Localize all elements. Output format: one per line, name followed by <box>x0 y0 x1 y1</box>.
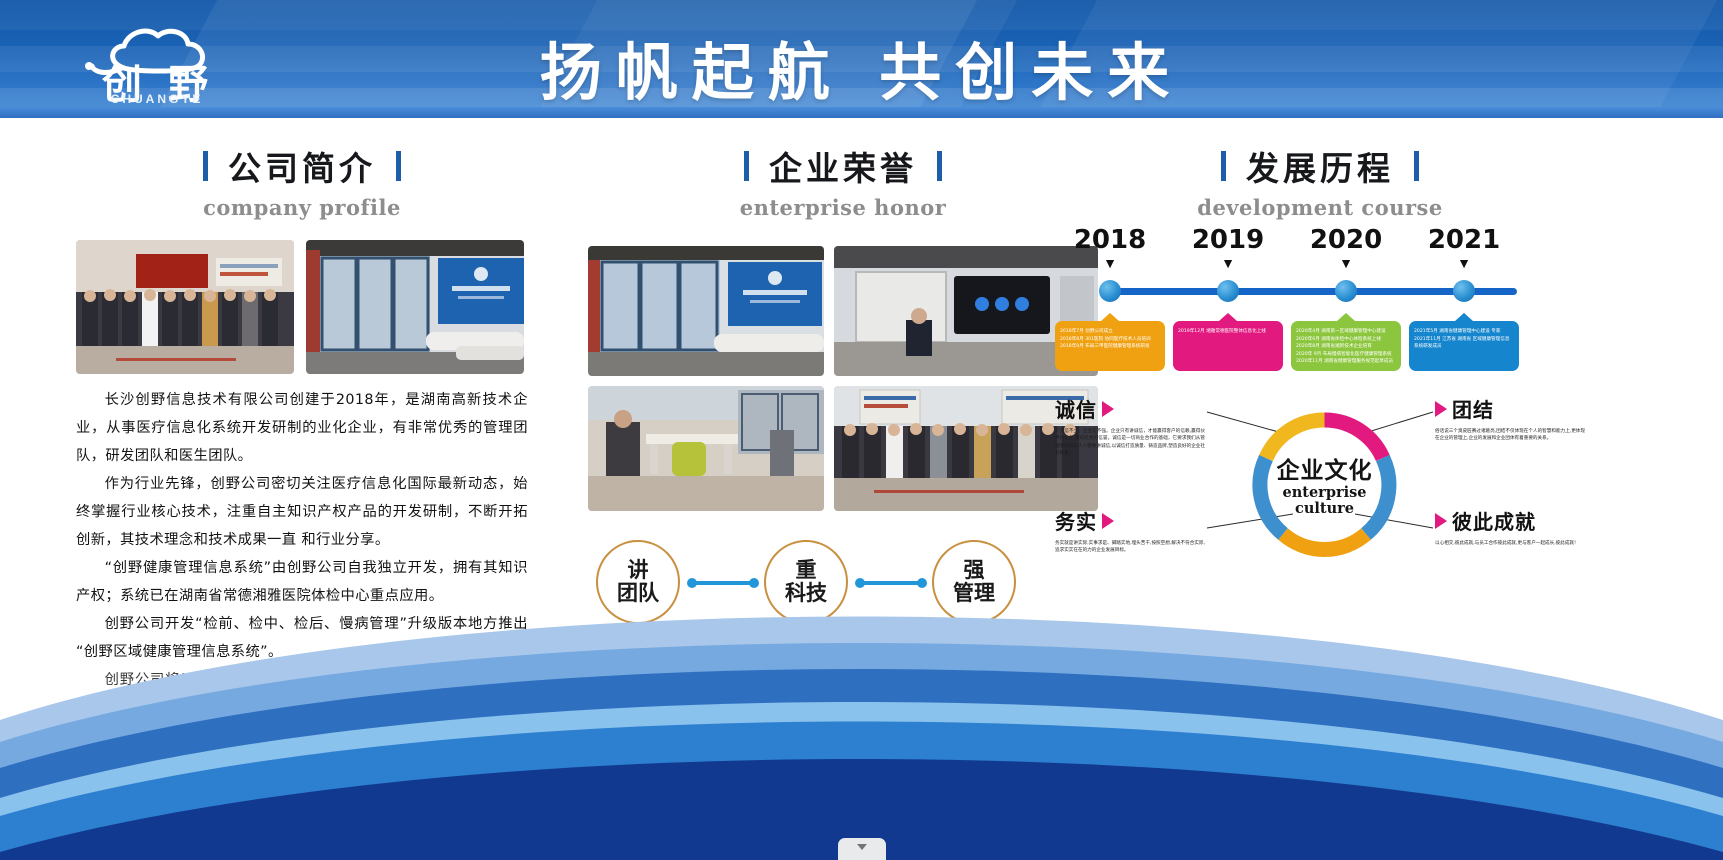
title-bar-left <box>1221 151 1226 181</box>
timeline-entry: 2020年4月 湖南第一区域健康管理中心建设 <box>1296 328 1396 336</box>
timeline-entry: 2020年6月 湖南省体检中心体检系统上线 <box>1296 336 1396 344</box>
culture-item-integrity: 诚信 人无信不立，企业信不强。企业只有讲诚信，才能赢得客户的信赖,赢得伙伴的信任… <box>1055 394 1205 458</box>
section-title-cn: 公司简介 <box>76 142 528 190</box>
timeline-caret-icon: ▼ <box>1173 258 1283 268</box>
timeline-card-2020: 2020年4月 湖南第一区域健康管理中心建设 2020年6月 湖南省体检中心体检… <box>1291 321 1401 371</box>
bottom-wave-decoration <box>0 570 1723 860</box>
honor-photo-gallery <box>588 246 1098 511</box>
culture-center-cn: 企业文化 <box>1277 451 1373 485</box>
section-title-en: enterprise honor <box>588 195 1098 220</box>
section-heading-development-course: 发展历程 development course <box>1055 142 1585 220</box>
logo-subtitle: CHUANGYE <box>62 92 252 106</box>
scroll-down-indicator[interactable] <box>838 838 886 860</box>
card-notch <box>1455 313 1473 321</box>
photo-office-interior <box>588 246 824 376</box>
photo-workspace <box>588 386 824 511</box>
header-underline <box>0 107 1723 118</box>
photo-office-lobby <box>306 240 524 374</box>
culture-item-unity: 团结 俗话说三个臭皮匠赛过诸葛亮,团结不仅体现在个人的智慧和能力上,更体现在企业… <box>1435 394 1585 443</box>
card-notch <box>1101 313 1119 321</box>
poster-header: 扬帆起航 共创未来 创 野 CHUANGYE <box>0 0 1723 118</box>
section-heading-enterprise-honor: 企业荣誉 enterprise honor <box>588 142 1098 220</box>
section-title-en: company profile <box>76 195 528 220</box>
culture-ring: 企业文化 enterprise culture <box>1247 406 1402 561</box>
timeline-caret-icon: ▼ <box>1291 258 1401 268</box>
profile-paragraph: 长沙创野信息技术有限公司创建于2018年，是湖南高新技术企业，从事医疗信息化系统… <box>76 386 528 470</box>
card-notch <box>1219 313 1237 321</box>
timeline-entry: 2020年11月 湖南省健康管理服务规范起草成员 <box>1296 358 1396 366</box>
timeline-year-2019: 2019 <box>1173 225 1283 255</box>
company-logo: 创 野 CHUANGYE <box>62 6 252 110</box>
arrow-right-icon <box>1102 513 1114 529</box>
culture-item-title-row: 务实 <box>1055 506 1205 535</box>
card-notch <box>1337 313 1355 321</box>
culture-center-en-line1: enterprise <box>1282 485 1366 501</box>
timeline-card-2021: 2021年5月 湖南省健康管理中心建设 专家 2021年11月 江苏省 湖南省 … <box>1409 321 1519 371</box>
culture-ring-center: 企业文化 enterprise culture <box>1247 406 1402 561</box>
timeline-caret-icon: ▼ <box>1055 258 1165 268</box>
timeline-dot-2019 <box>1217 280 1239 302</box>
bottom-wave-svg <box>0 570 1723 860</box>
arrow-right-icon <box>1435 513 1447 529</box>
title-bar-right <box>1414 151 1419 181</box>
culture-item-body: 俗话说三个臭皮匠赛过诸葛亮,团结不仅体现在个人的智慧和能力上,更体现在企业的管理… <box>1435 428 1585 443</box>
title-bar-left <box>203 151 208 181</box>
title-bar-right <box>396 151 401 181</box>
timeline-card-2018: 2018年7月 创野公司成立 2018年8月 301医院 协同医疗技术人员培训 … <box>1055 321 1165 371</box>
culture-title-text: 务实 <box>1055 506 1097 535</box>
culture-item-body: 以心相交,彼此成就,与员工合作彼此成就,更与客户一起成长,彼此成就! <box>1435 540 1585 547</box>
timeline-entry: 2021年5月 湖南省健康管理中心建设 专家 <box>1414 328 1514 336</box>
timeline-entry: 2018年7月 创野公司成立 <box>1060 328 1160 336</box>
culture-item-body: 人无信不立，企业信不强。企业只有讲诚信，才能赢得客户的信赖,赢得伙伴的信任,赢得… <box>1055 428 1205 458</box>
timeline-entry: 2018年9月 布局三甲医院健康管理系统研发 <box>1060 343 1160 351</box>
photo-office-lobby-image <box>306 240 524 374</box>
culture-item-title-row: 彼此成就 <box>1435 506 1585 535</box>
profile-paragraph: 作为行业先锋，创野公司密切关注医疗信息化国际最新动态，始终掌握行业核心技术，注重… <box>76 470 528 554</box>
timeline-dot-2018 <box>1099 280 1121 302</box>
section-heading-company-profile: 公司简介 company profile <box>76 142 528 220</box>
title-bar-left <box>744 151 749 181</box>
section-title-cn: 发展历程 <box>1055 142 1585 190</box>
culture-title-text: 彼此成就 <box>1452 506 1536 535</box>
arrow-right-icon <box>1102 401 1114 417</box>
photo-office-interior-image <box>588 246 824 376</box>
section-title-text: 发展历程 <box>1246 142 1394 190</box>
timeline-year-2020: 2020 <box>1291 225 1401 255</box>
culture-center-en-line2: culture <box>1282 501 1366 517</box>
timeline-entry: 2021年11月 江苏省 湖南省 区域健康管理信息 <box>1414 336 1514 344</box>
culture-title-text: 团结 <box>1452 394 1494 423</box>
section-title-cn: 企业荣誉 <box>588 142 1098 190</box>
culture-item-mutual-achievement: 彼此成就 以心相交,彼此成就,与员工合作彼此成就,更与客户一起成长,彼此成就! <box>1435 506 1585 547</box>
section-title-en: development course <box>1055 195 1585 220</box>
timeline-entry: 2018年8月 301医院 协同医疗技术人员培训 <box>1060 336 1160 344</box>
timeline-year-2021: 2021 <box>1409 225 1519 255</box>
timeline-entry: 2019年12月 湘雅常德医院整体信息化上线 <box>1178 328 1278 336</box>
section-title-text: 企业荣誉 <box>769 142 917 190</box>
culture-center-en: enterprise culture <box>1282 485 1366 517</box>
culture-item-title-row: 团结 <box>1435 394 1585 423</box>
culture-title-text: 诚信 <box>1055 394 1097 423</box>
timeline-dot-2021 <box>1453 280 1475 302</box>
photo-team-group <box>76 240 294 374</box>
timeline-entry: 2020年8月 湖南省湘新技术企业培育 <box>1296 343 1396 351</box>
development-timeline: 2018 2019 2020 2021 ▼ ▼ ▼ ▼ 2018年7月 创野公司… <box>1055 225 1585 380</box>
timeline-year-2018: 2018 <box>1055 225 1165 255</box>
timeline-entry: 2020年 9月 布局慢病智能化医疗健康管理系统 <box>1296 351 1396 359</box>
poster-title: 扬帆起航 共创未来 <box>0 22 1723 112</box>
timeline-entry: 系统研发成员 <box>1414 343 1514 351</box>
timeline-card-2019: 2019年12月 湘雅常德医院整体信息化上线 <box>1173 321 1283 371</box>
timeline-dot-2020 <box>1335 280 1357 302</box>
arrow-right-icon <box>1435 401 1447 417</box>
poster-canvas: 扬帆起航 共创未来 创 野 CHUANGYE 公司简介 company prof… <box>0 0 1723 860</box>
title-bar-right <box>937 151 942 181</box>
section-title-text: 公司简介 <box>228 142 376 190</box>
timeline-caret-icon: ▼ <box>1409 258 1519 268</box>
culture-item-title-row: 诚信 <box>1055 394 1205 423</box>
company-photo-gallery <box>76 240 526 374</box>
photo-workspace-image <box>588 386 824 511</box>
culture-item-body: 务实就是讲实际,实事求是、脚踏实地,埋头苦干,按照空想,解决不符合实际,追求实实… <box>1055 540 1205 555</box>
photo-team-group-image <box>76 240 294 374</box>
culture-item-pragmatism: 务实 务实就是讲实际,实事求是、脚踏实地,埋头苦干,按照空想,解决不符合实际,追… <box>1055 506 1205 555</box>
